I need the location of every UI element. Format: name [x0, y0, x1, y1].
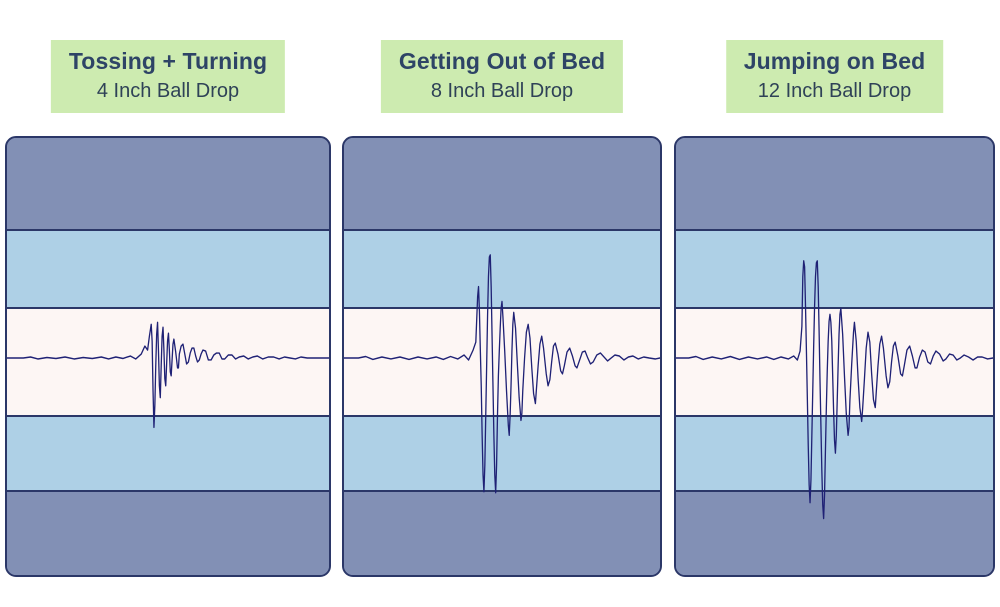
seismograph-trace-3 [676, 138, 993, 575]
waveform-path-3 [676, 261, 993, 519]
panel-title-1: Tossing + Turning [69, 47, 267, 76]
panel-title-2: Getting Out of Bed [399, 47, 605, 76]
mattress-diagram-3 [674, 136, 995, 577]
panel-label-1: Tossing + Turning 4 Inch Ball Drop [51, 40, 285, 113]
panel-column-2: Getting Out of Bed 8 Inch Ball Drop [342, 0, 662, 607]
panel-label-2: Getting Out of Bed 8 Inch Ball Drop [381, 40, 623, 113]
panel-column-1: Tossing + Turning 4 Inch Ball Drop [5, 0, 331, 607]
mattress-diagram-2 [342, 136, 662, 577]
waveform-path-2 [344, 255, 660, 493]
panel-column-3: Jumping on Bed 12 Inch Ball Drop [674, 0, 995, 607]
seismograph-trace-2 [344, 138, 660, 575]
waveform-path-1 [7, 322, 329, 427]
panel-subtitle-3: 12 Inch Ball Drop [744, 78, 926, 104]
panel-label-3: Jumping on Bed 12 Inch Ball Drop [726, 40, 944, 113]
mattress-diagram-1 [5, 136, 331, 577]
seismograph-trace-1 [7, 138, 329, 575]
panel-title-3: Jumping on Bed [744, 47, 926, 76]
panel-subtitle-1: 4 Inch Ball Drop [69, 78, 267, 104]
motion-transfer-figure: Tossing + Turning 4 Inch Ball Drop Getti… [0, 0, 1000, 607]
panel-subtitle-2: 8 Inch Ball Drop [399, 78, 605, 104]
